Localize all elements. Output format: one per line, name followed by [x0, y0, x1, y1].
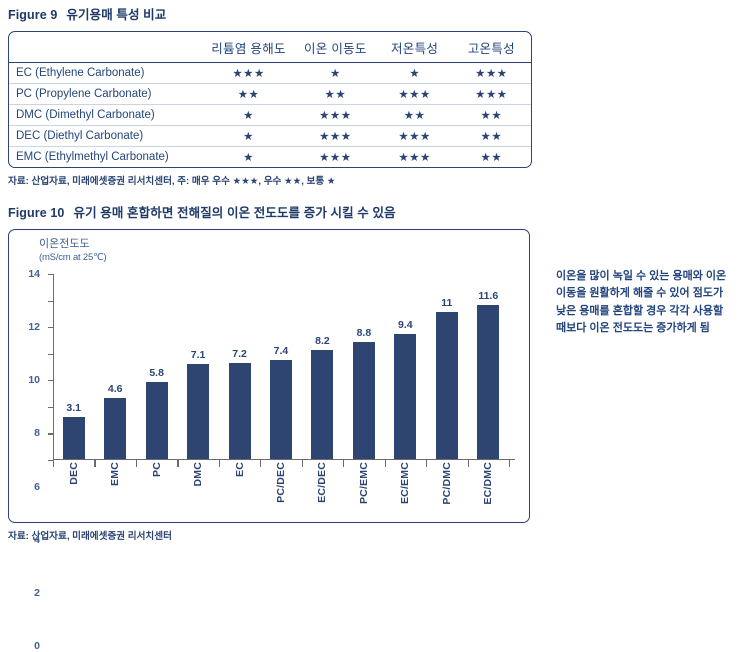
x-axis-tick: [509, 460, 510, 467]
row-label: EMC (Ethylmethyl Carbonate): [9, 147, 204, 168]
rating-cell: ★: [377, 63, 451, 84]
bar-group: 8.2: [302, 274, 343, 459]
rating-cell: ★★: [452, 126, 531, 147]
conductivity-chart-box: 이온전도도 (mS/cm at 25℃) 02468101214 3.14.65…: [8, 229, 530, 523]
bar: [436, 312, 458, 458]
bar-value-label: 11.6: [478, 290, 498, 302]
bar-group: 9.4: [385, 274, 426, 459]
x-axis-label-cell: PC/DMC: [426, 462, 467, 524]
bar: [311, 350, 333, 459]
y-axis-label-line1: 이온전도도: [39, 238, 107, 252]
rating-cell: ★★★: [377, 126, 451, 147]
column-header-low-temp: 저온특성: [377, 32, 451, 63]
y-axis-tick-label: 4: [34, 534, 40, 546]
rating-cell: ★: [293, 63, 377, 84]
x-axis-label-cell: DEC: [53, 462, 94, 524]
x-axis-label-cell: PC: [136, 462, 177, 524]
chart-plot-area: 02468101214 3.14.65.87.17.27.48.28.89.41…: [53, 274, 509, 460]
rating-cell: ★★★: [377, 84, 451, 105]
solvent-comparison-table: 리튬염 용해도 이온 이동도 저온특성 고온특성 EC (Ethylene Ca…: [9, 32, 531, 167]
y-axis-tick-label: 6: [34, 481, 40, 493]
column-header-name: [9, 32, 204, 63]
bar: [63, 417, 85, 458]
x-axis-tick-label: DMC: [192, 462, 204, 487]
figure-10-number: Figure 10: [8, 206, 64, 220]
rating-cell: ★★★: [293, 126, 377, 147]
rating-cell: ★★: [452, 105, 531, 126]
x-axis-label-cell: DMC: [177, 462, 218, 524]
bar: [353, 342, 375, 459]
bar: [270, 360, 292, 458]
x-axis-tick-label: EC/DEC: [316, 462, 328, 503]
row-label: EC (Ethylene Carbonate): [9, 63, 204, 84]
figure-10-title-text: 유기 용매 혼합하면 전해질의 이온 전도도를 증가 시킬 수 있음: [73, 206, 395, 220]
bar: [146, 382, 168, 459]
x-axis-tick-label: EC/EMC: [399, 462, 411, 504]
y-axis-tick-label: 2: [34, 587, 40, 599]
bar-group: 11.6: [468, 274, 509, 459]
bar-group: 5.8: [136, 274, 177, 459]
comparison-table-box: 리튬염 용해도 이온 이동도 저온특성 고온특성 EC (Ethylene Ca…: [8, 31, 532, 168]
bar-group: 7.4: [260, 274, 301, 459]
column-header-solubility: 리튬염 용해도: [204, 32, 293, 63]
rating-cell: ★: [204, 105, 293, 126]
figure-9-section: Figure 9유기용매 특성 비교 리튬염 용해도 이온 이동도 저온특성 고…: [8, 4, 532, 187]
bar: [394, 334, 416, 459]
x-axis-label-cell: EC/EMC: [385, 462, 426, 524]
rating-cell: ★★★: [377, 147, 451, 168]
bar: [477, 305, 499, 459]
rating-cell: ★★★: [204, 63, 293, 84]
table-row: PC (Propylene Carbonate) ★★ ★★ ★★★ ★★★: [9, 84, 531, 105]
table-row: EMC (Ethylmethyl Carbonate) ★ ★★★ ★★★ ★★: [9, 147, 531, 168]
bar: [104, 398, 126, 459]
bar: [229, 363, 251, 459]
table-row: DEC (Diethyl Carbonate) ★ ★★★ ★★★ ★★: [9, 126, 531, 147]
table-header-row: 리튬염 용해도 이온 이동도 저온특성 고온특성: [9, 32, 531, 63]
bar-value-label: 5.8: [149, 367, 164, 379]
rating-cell: ★★: [377, 105, 451, 126]
bar-value-label: 9.4: [398, 319, 413, 331]
bar-group: 8.8: [343, 274, 384, 459]
x-axis-label-cell: PC/DEC: [260, 462, 301, 524]
y-axis-tick-label: 10: [28, 374, 40, 386]
bar-value-label: 7.1: [191, 349, 206, 361]
y-axis-label-unit: (mS/cm at 25℃): [39, 252, 107, 264]
bar-value-label: 11: [441, 297, 452, 309]
x-axis-tick-label: DEC: [68, 462, 80, 485]
x-axis-label-cell: EC: [219, 462, 260, 524]
bar-value-label: 7.2: [232, 348, 247, 360]
table-row: DMC (Dimethyl Carbonate) ★ ★★★ ★★ ★★: [9, 105, 531, 126]
x-axis-label-cell: PC/EMC: [343, 462, 384, 524]
rating-cell: ★★★: [293, 105, 377, 126]
x-axis-label-cell: EC/DMC: [468, 462, 509, 524]
row-label: DEC (Diethyl Carbonate): [9, 126, 204, 147]
y-axis-tick-label: 8: [34, 427, 40, 439]
y-axis-label: 이온전도도 (mS/cm at 25℃): [39, 238, 107, 264]
bar-value-label: 4.6: [108, 383, 123, 395]
rating-cell: ★: [204, 126, 293, 147]
bar-value-label: 8.2: [315, 335, 330, 347]
y-axis-tick-label: 14: [28, 268, 40, 280]
bar-group: 11: [426, 274, 467, 459]
figure-10-source-note: 자료: 산업자료, 미래에셋증권 리서치센터: [8, 528, 532, 542]
rating-cell: ★★: [204, 84, 293, 105]
bar-value-label: 8.8: [357, 327, 372, 339]
bar-series: 3.14.65.87.17.27.48.28.89.41111.6: [53, 274, 509, 459]
rating-cell: ★★★: [452, 63, 531, 84]
x-axis-tick-label: PC: [151, 462, 163, 477]
bar-group: 7.2: [219, 274, 260, 459]
bar-value-label: 7.4: [274, 345, 289, 357]
rating-cell: ★: [204, 147, 293, 168]
table-row: EC (Ethylene Carbonate) ★★★ ★ ★ ★★★: [9, 63, 531, 84]
column-header-ion-mobility: 이온 이동도: [293, 32, 377, 63]
x-axis-tick-label: PC/EMC: [358, 462, 370, 504]
figure-10-title: Figure 10유기 용매 혼합하면 전해질의 이온 전도도를 증가 시킬 수…: [8, 202, 532, 221]
rating-cell: ★★: [452, 147, 531, 168]
figure-9-title: Figure 9유기용매 특성 비교: [8, 4, 532, 23]
figure-10-section: Figure 10유기 용매 혼합하면 전해질의 이온 전도도를 증가 시킬 수…: [8, 202, 532, 542]
rating-cell: ★★: [293, 84, 377, 105]
row-label: DMC (Dimethyl Carbonate): [9, 105, 204, 126]
y-axis-tick-label: 12: [28, 321, 40, 333]
bar-value-label: 3.1: [66, 402, 81, 414]
figure-9-number: Figure 9: [8, 8, 57, 22]
x-axis-tick-label: EC: [234, 462, 246, 477]
x-axis-labels: DECEMCPCDMCECPC/DECEC/DECPC/EMCEC/EMCPC/…: [53, 462, 509, 524]
x-axis-tick-label: EMC: [109, 462, 121, 486]
column-header-high-temp: 고온특성: [452, 32, 531, 63]
chart-annotation-text: 이온을 많이 녹일 수 있는 용매와 이온 이동을 원활하게 해줄 수 있어 점…: [556, 268, 734, 338]
figure-9-title-text: 유기용매 특성 비교: [66, 8, 166, 22]
rating-cell: ★★★: [452, 84, 531, 105]
x-axis-label-cell: EMC: [94, 462, 135, 524]
rating-cell: ★★★: [293, 147, 377, 168]
figure-9-source-note: 자료: 산업자료, 미래에셋증권 리서치센터, 주: 매우 우수 ★★★, 우수…: [8, 173, 532, 187]
bar: [187, 364, 209, 458]
x-axis-tick-label: PC/DMC: [441, 462, 453, 505]
x-axis-label-cell: EC/DEC: [302, 462, 343, 524]
y-axis-tick-label: 0: [34, 640, 40, 652]
x-axis-tick-label: EC/DMC: [482, 462, 494, 505]
x-axis-tick-label: PC/DEC: [275, 462, 287, 503]
bar-group: 4.6: [94, 274, 135, 459]
bar-group: 7.1: [177, 274, 218, 459]
bar-group: 3.1: [53, 274, 94, 459]
row-label: PC (Propylene Carbonate): [9, 84, 204, 105]
